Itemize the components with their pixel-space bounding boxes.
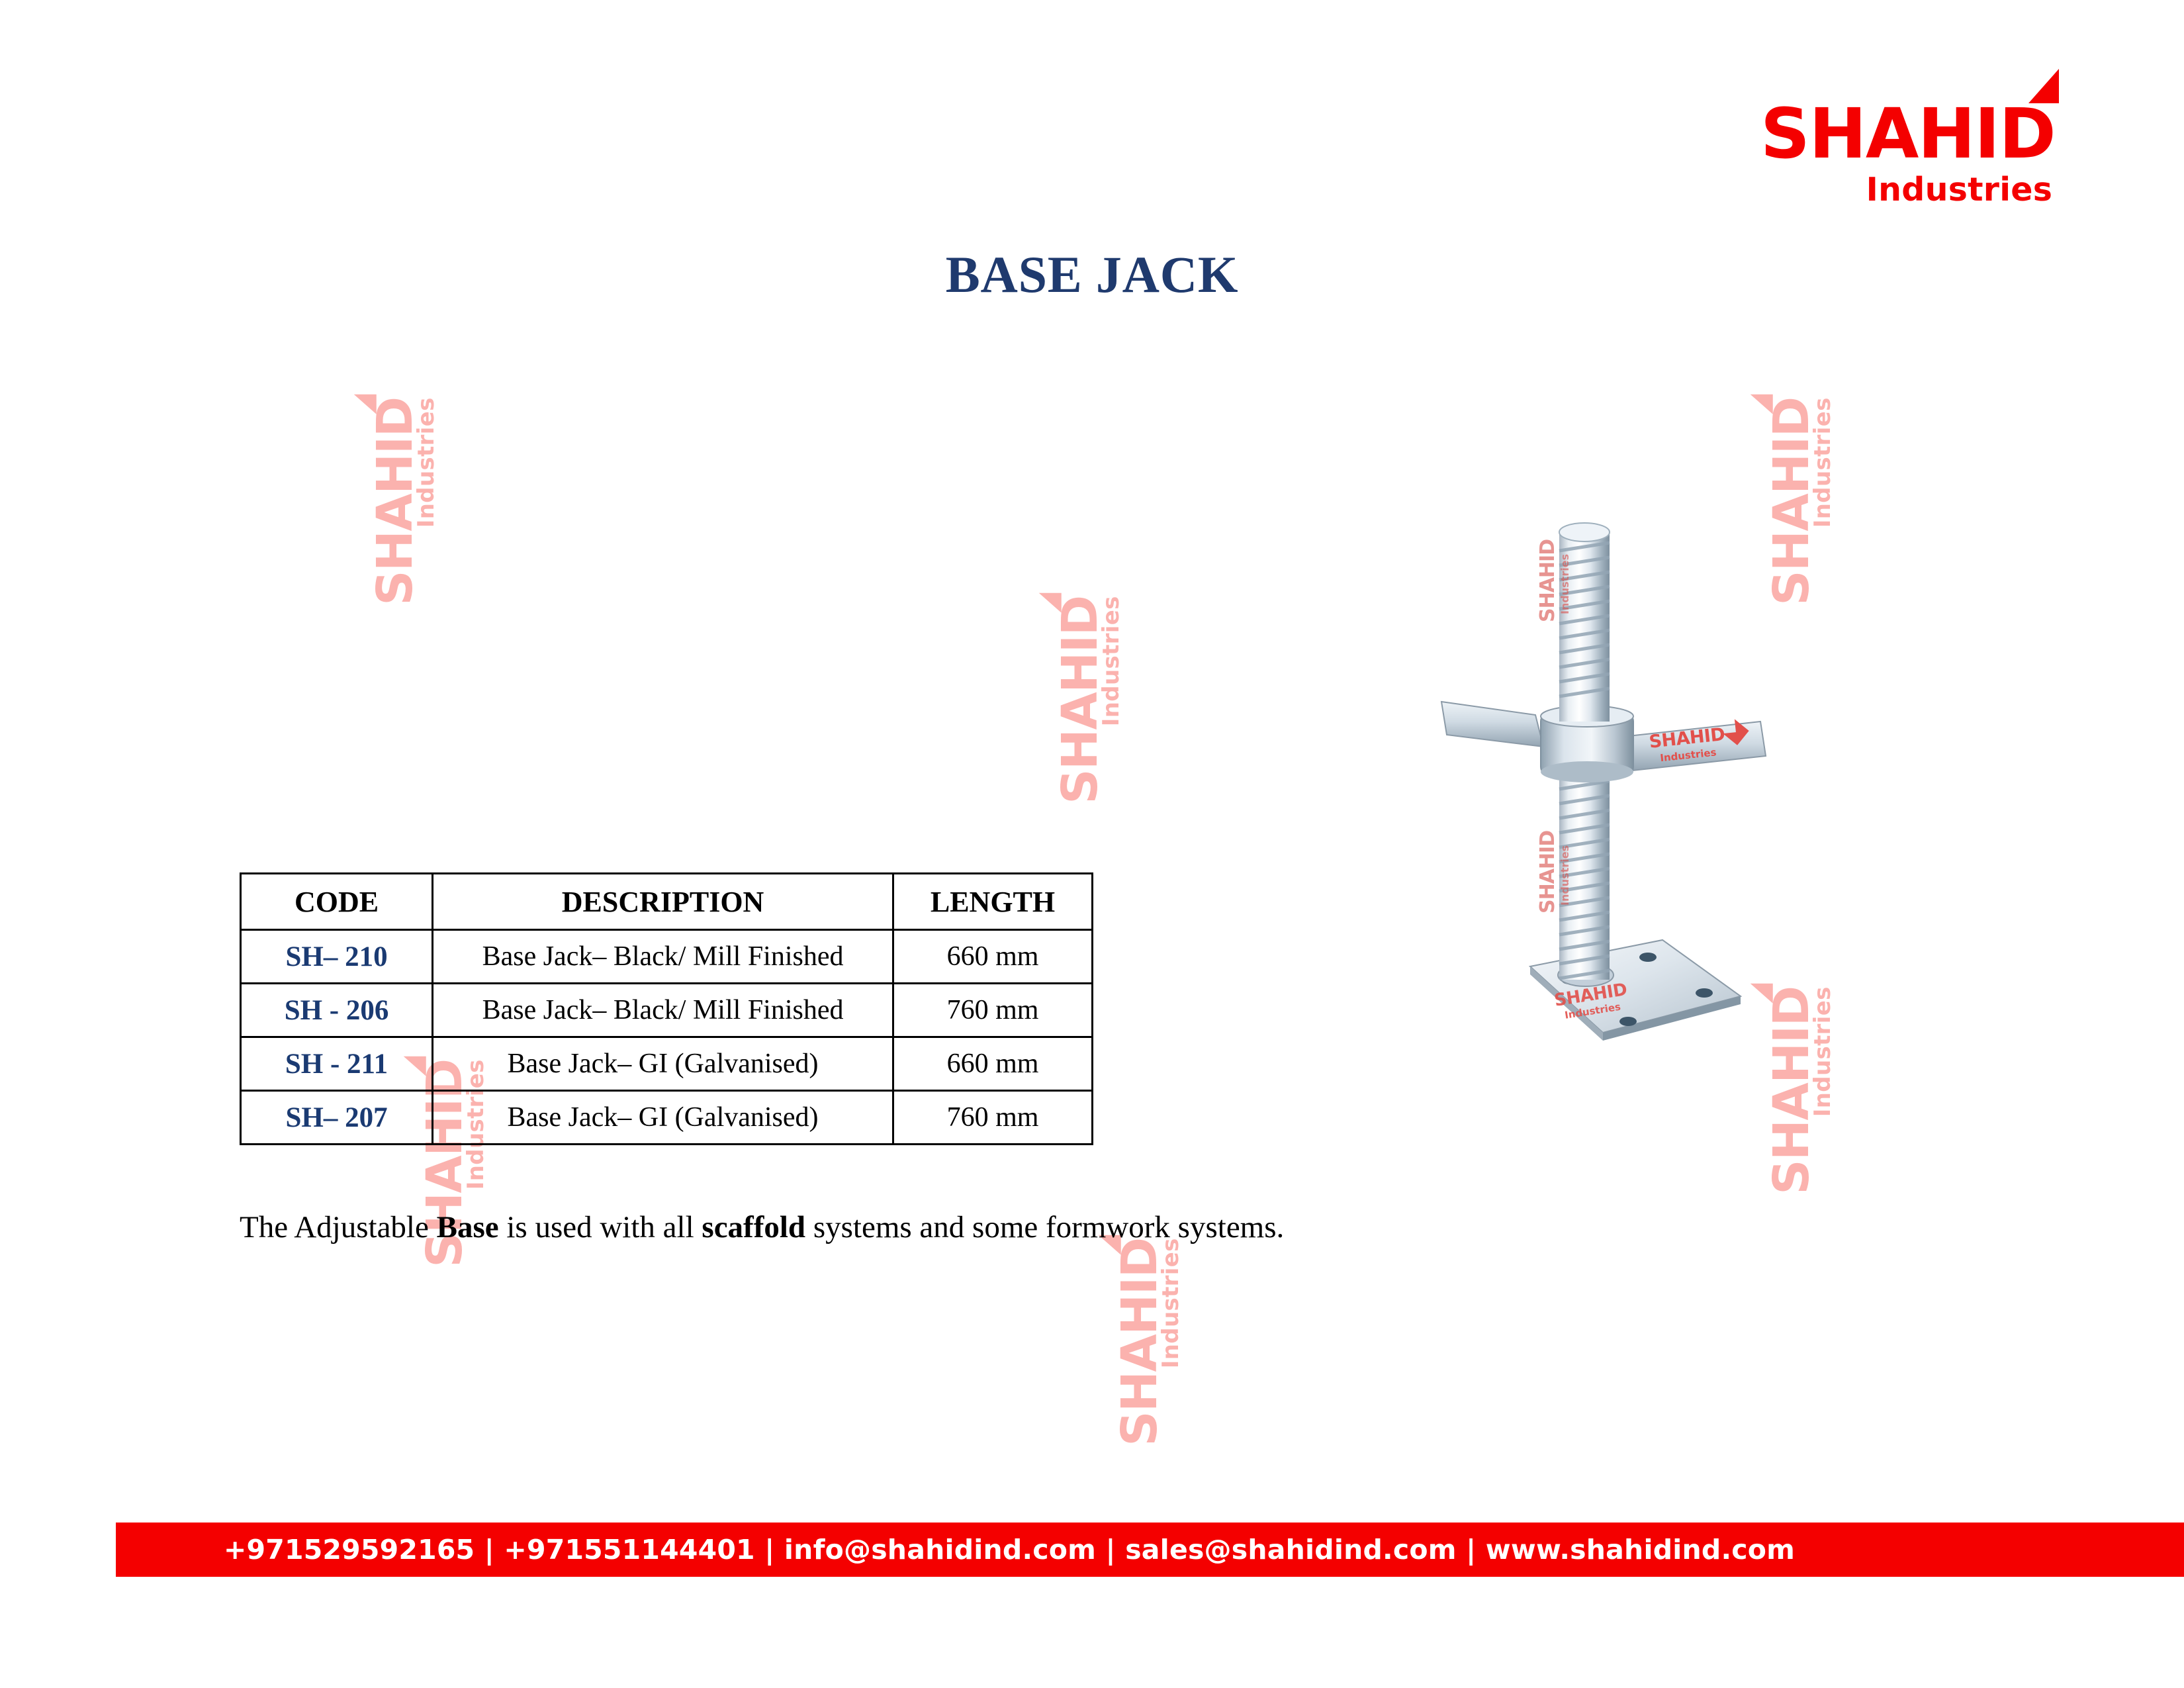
table-header-code: CODE xyxy=(241,874,433,930)
cell-description: Base Jack– Black/ Mill Finished xyxy=(433,930,893,984)
intro-bold-base: Base xyxy=(437,1210,499,1244)
watermark-tagline: Industries xyxy=(1161,1238,1181,1446)
watermark: SHAHID Industries xyxy=(1118,1238,1181,1446)
logo-brand-text: SHAHID xyxy=(1760,99,2055,168)
table-header-row: CODE DESCRIPTION LENGTH xyxy=(241,874,1093,930)
bolt-hole xyxy=(1639,953,1657,962)
watermark-tagline: Industries xyxy=(1813,397,1833,606)
watermark-arrow-icon xyxy=(1751,395,1773,414)
table-row: SH– 207 Base Jack– GI (Galvanised) 760 m… xyxy=(241,1091,1093,1145)
svg-text:SHAHID: SHAHID xyxy=(1536,539,1559,622)
table-header-description: DESCRIPTION xyxy=(433,874,893,930)
page-title: BASE JACK xyxy=(0,245,2184,305)
cell-code: SH - 211 xyxy=(241,1037,433,1091)
watermark: SHAHID Industries xyxy=(374,397,437,606)
watermark: SHAHID Industries xyxy=(1059,596,1122,804)
company-logo: SHAHID Industries xyxy=(1760,99,2055,206)
intro-part3: systems and some formwork systems. xyxy=(805,1210,1284,1244)
cell-code: SH - 206 xyxy=(241,984,433,1037)
cell-description: Base Jack– GI (Galvanised) xyxy=(433,1037,893,1091)
watermark-brand: SHAHID xyxy=(1059,596,1102,804)
svg-text:Industries: Industries xyxy=(1559,554,1571,614)
contact-footer-bar: +971529592165 | +971551144401 | info@sha… xyxy=(116,1523,2184,1577)
cell-code: SH– 207 xyxy=(241,1091,433,1145)
watermark-tagline: Industries xyxy=(1813,986,1833,1195)
product-description: The Adjustable Base is used with all sca… xyxy=(240,1207,1378,1248)
svg-text:SHAHID: SHAHID xyxy=(1536,831,1559,914)
watermark-brand: SHAHID xyxy=(374,397,417,606)
cell-description: Base Jack– Black/ Mill Finished xyxy=(433,984,893,1037)
datasheet-page: SHAHID Industries SHAHID Industries SHAH… xyxy=(0,0,2184,1688)
watermark-arrow-icon xyxy=(354,395,377,414)
watermark-tagline: Industries xyxy=(1102,596,1122,804)
footer-contact-text: +971529592165 | +971551144401 | info@sha… xyxy=(116,1523,1903,1577)
intro-part1: The Adjustable xyxy=(240,1210,437,1244)
cell-length: 660 mm xyxy=(893,1037,1093,1091)
cell-code: SH– 210 xyxy=(241,930,433,984)
cell-length: 760 mm xyxy=(893,1091,1093,1145)
svg-text:Industries: Industries xyxy=(1559,845,1571,906)
bolt-hole xyxy=(1696,988,1713,998)
watermark-tagline: Industries xyxy=(417,397,437,606)
cell-length: 760 mm xyxy=(893,984,1093,1037)
intro-bold-scaffold: scaffold xyxy=(702,1210,805,1244)
watermark-brand: SHAHID xyxy=(1118,1238,1161,1446)
cell-length: 660 mm xyxy=(893,930,1093,984)
threaded-rod-upper xyxy=(1559,523,1610,722)
table-row: SH - 206 Base Jack– Black/ Mill Finished… xyxy=(241,984,1093,1037)
logo-tagline-text: Industries xyxy=(1760,173,2055,206)
logo-arrow-icon xyxy=(2028,69,2059,103)
cell-description: Base Jack– GI (Galvanised) xyxy=(433,1091,893,1145)
specification-table: CODE DESCRIPTION LENGTH SH– 210 Base Jac… xyxy=(240,872,1093,1145)
table-row: SH– 210 Base Jack– Black/ Mill Finished … xyxy=(241,930,1093,984)
intro-part2: is used with all xyxy=(499,1210,702,1244)
watermark-arrow-icon xyxy=(1039,593,1062,613)
table-header-length: LENGTH xyxy=(893,874,1093,930)
table-row: SH - 211 Base Jack– GI (Galvanised) 660 … xyxy=(241,1037,1093,1091)
product-image: SHAHID Industries SHAHID xyxy=(1430,503,1800,1139)
bolt-hole xyxy=(1619,1017,1637,1026)
